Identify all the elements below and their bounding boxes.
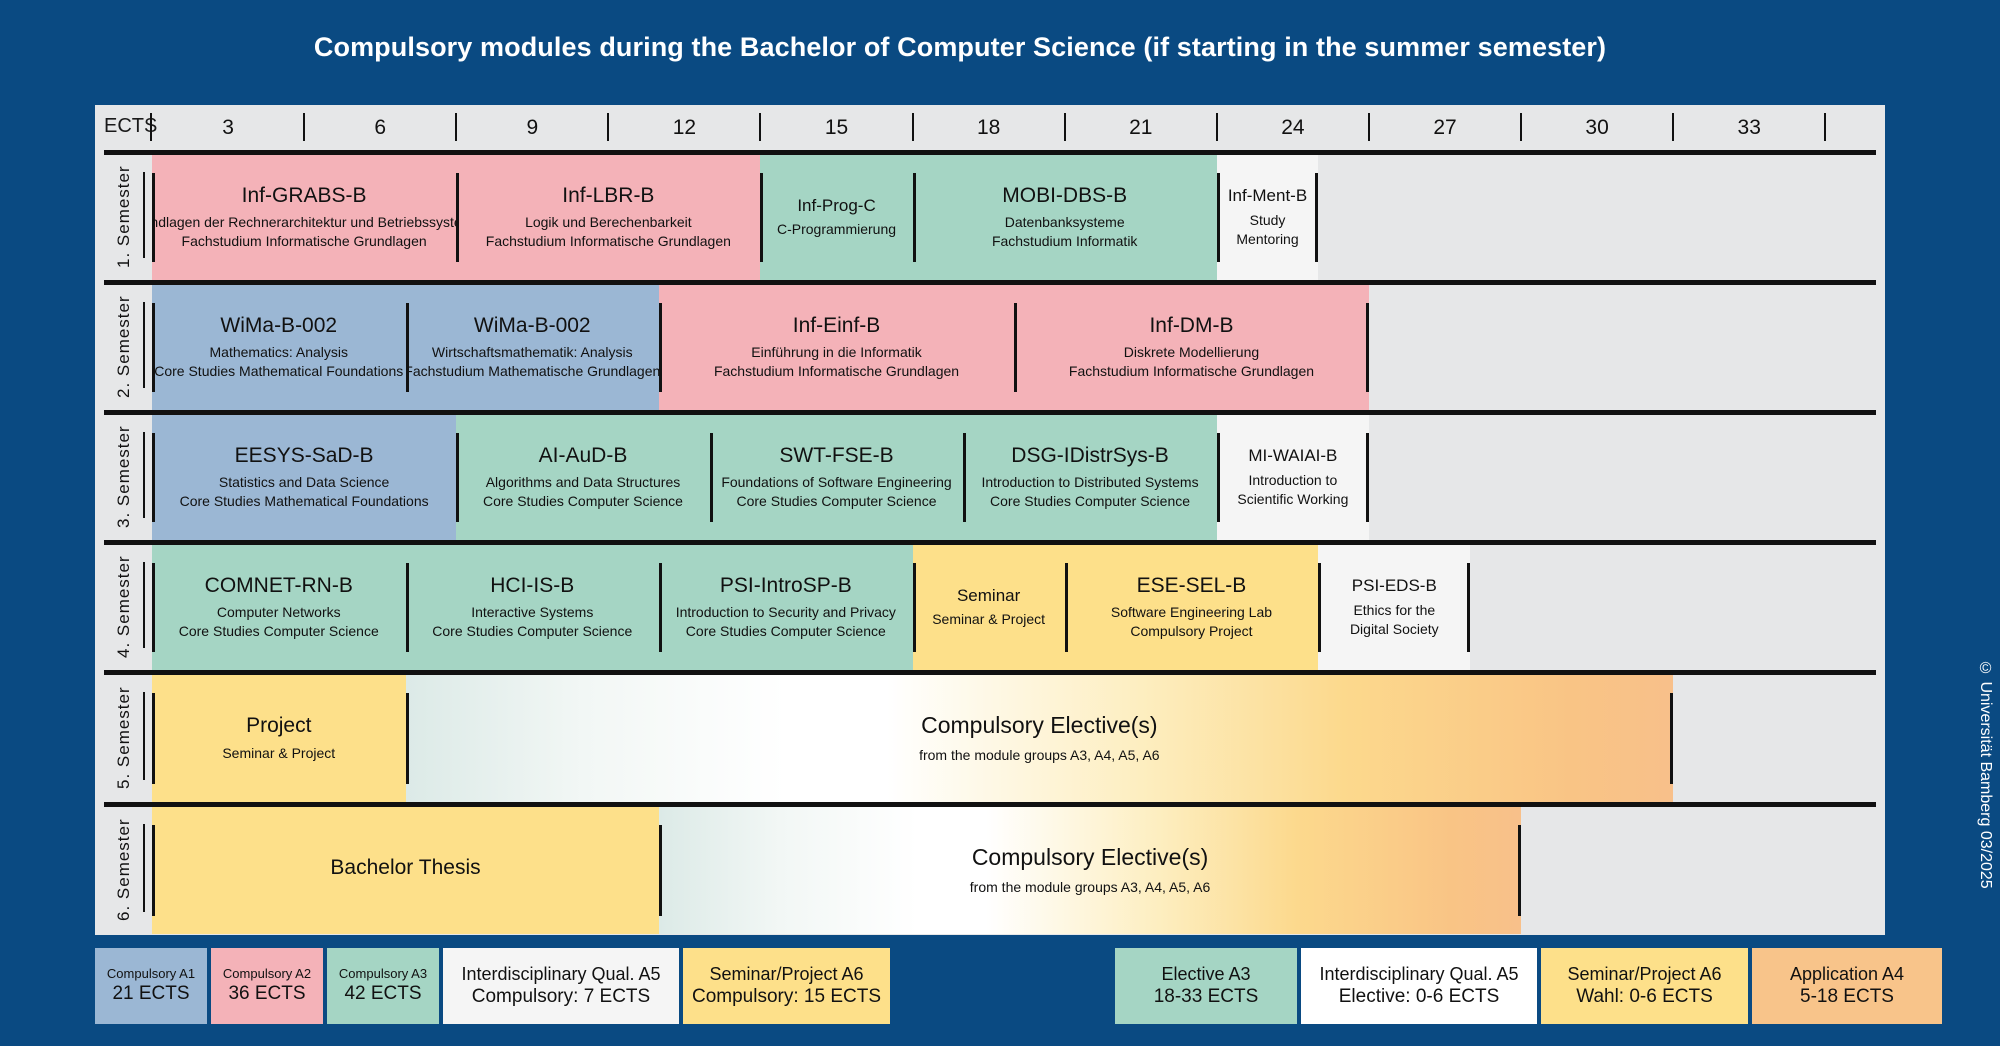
scale-tick — [1520, 113, 1522, 141]
scale-tick-label: 30 — [1567, 116, 1627, 140]
copyright-notice: © Universität Bamberg 03/2025 — [1976, 660, 1994, 889]
legend-item-title: Elective A3 — [1161, 963, 1250, 986]
module-group: Digital Society — [1350, 620, 1439, 639]
module-block[interactable]: HCI-IS-BInteractive SystemsCore Studies … — [406, 545, 660, 670]
ects-scale: ECTS 3691215182124273033 — [95, 105, 1885, 150]
module-block[interactable]: DSG-IDistrSys-BIntroduction to Distribut… — [963, 415, 1217, 540]
module-code: Seminar — [957, 586, 1020, 606]
semester-track: EESYS-SaD-BStatistics and Data ScienceCo… — [152, 415, 1876, 540]
scale-tick — [1216, 113, 1218, 141]
module-title: from the module groups A3, A4, A5, A6 — [970, 878, 1211, 897]
legend-item[interactable]: Application A45-18 ECTS — [1752, 948, 1942, 1024]
legend-item-value: 5-18 ECTS — [1800, 985, 1894, 1009]
module-separator — [152, 825, 155, 916]
module-separator — [1217, 433, 1220, 522]
semester-label: 2. Semester — [109, 290, 139, 404]
module-separator — [659, 825, 662, 916]
legend-item[interactable]: Seminar/Project A6Wahl: 0-6 ECTS — [1541, 948, 1748, 1024]
module-block[interactable]: EESYS-SaD-BStatistics and Data ScienceCo… — [152, 415, 456, 540]
module-code: MOBI-DBS-B — [1002, 184, 1127, 208]
module-separator — [1518, 825, 1521, 916]
module-title: Einführung in die Informatik — [751, 343, 921, 362]
legend-item-value: Compulsory: 15 ECTS — [692, 985, 881, 1009]
module-title: Study — [1250, 211, 1286, 230]
module-title: Software Engineering Lab — [1111, 603, 1272, 622]
module-title: Logik und Berechenbarkeit — [525, 213, 692, 232]
legend-item[interactable]: Elective A318-33 ECTS — [1115, 948, 1297, 1024]
module-block[interactable]: SWT-FSE-BFoundations of Software Enginee… — [710, 415, 964, 540]
legend-item-value: Wahl: 0-6 ECTS — [1576, 985, 1713, 1009]
legend-item-title: Interdisciplinary Qual. A5 — [461, 963, 660, 986]
semester-label-divider — [143, 562, 145, 648]
module-separator — [710, 433, 713, 522]
semester-label-divider — [143, 172, 145, 258]
module-block[interactable]: Inf-Ment-BStudyMentoring — [1217, 155, 1318, 280]
module-separator — [1318, 563, 1321, 652]
semester-track: Inf-GRABS-BGrundlagen der Rechnerarchite… — [152, 155, 1876, 280]
module-block[interactable]: PSI-IntroSP-BIntroduction to Security an… — [659, 545, 913, 670]
module-group: Core Studies Mathematical Foundations — [154, 362, 403, 381]
legend-item-value: 36 ECTS — [228, 982, 305, 1006]
semester-label: 4. Semester — [109, 550, 139, 664]
module-code: Inf-GRABS-B — [242, 184, 367, 208]
module-title: Interactive Systems — [471, 603, 593, 622]
module-group: Scientific Working — [1237, 490, 1348, 509]
semester-row: 4. SemesterCOMNET-RN-BComputer NetworksC… — [95, 540, 1885, 670]
semester-label: 1. Semester — [109, 160, 139, 274]
semester-label-divider — [143, 824, 145, 912]
module-title: Introduction to — [1249, 471, 1338, 490]
semester-label-divider — [143, 692, 145, 780]
module-block[interactable]: ESE-SEL-BSoftware Engineering LabCompuls… — [1065, 545, 1319, 670]
module-code: AI-AuD-B — [539, 444, 628, 468]
module-code: MI-WAIAI-B — [1248, 446, 1337, 466]
module-separator — [659, 563, 662, 652]
scale-tick-label: 24 — [1263, 116, 1323, 140]
module-title: Seminar & Project — [932, 610, 1045, 629]
module-code: COMNET-RN-B — [205, 574, 353, 598]
module-code: WiMa-B-002 — [220, 314, 337, 338]
legend-item-title: Seminar/Project A6 — [1567, 963, 1721, 986]
scale-tick-label: 18 — [959, 116, 1019, 140]
scale-tick-label: 9 — [502, 116, 562, 140]
module-title: Seminar & Project — [222, 744, 335, 763]
module-block[interactable]: PSI-EDS-BEthics for theDigital Society — [1318, 545, 1470, 670]
curriculum-panel: ECTS 3691215182124273033 1. SemesterInf-… — [95, 105, 1885, 935]
module-separator — [152, 563, 155, 652]
module-code: Inf-Ment-B — [1228, 186, 1307, 206]
module-block[interactable]: Bachelor Thesis — [152, 807, 659, 934]
legend-item-value: Compulsory: 7 ECTS — [472, 985, 650, 1009]
module-title: Ethics for the — [1353, 601, 1435, 620]
semester-label-divider — [143, 302, 145, 388]
module-block[interactable]: Inf-GRABS-BGrundlagen der Rechnerarchite… — [152, 155, 456, 280]
legend-item-value: 21 ECTS — [112, 982, 189, 1006]
module-separator — [1366, 433, 1369, 522]
semester-track: COMNET-RN-BComputer NetworksCore Studies… — [152, 545, 1876, 670]
module-block[interactable]: AI-AuD-BAlgorithms and Data StructuresCo… — [456, 415, 710, 540]
module-block[interactable]: Inf-LBR-BLogik und BerechenbarkeitFachst… — [456, 155, 760, 280]
module-title: Statistics and Data Science — [219, 473, 389, 492]
module-group: Core Studies Computer Science — [483, 492, 683, 511]
legend-item-title: Seminar/Project A6 — [709, 963, 863, 986]
legend-item[interactable]: Interdisciplinary Qual. A5Compulsory: 7 … — [443, 948, 679, 1024]
semester-track: ProjectSeminar & ProjectCompulsory Elect… — [152, 675, 1876, 802]
semester-row: 2. SemesterWiMa-B-002Mathematics: Analys… — [95, 280, 1885, 410]
semester-row: 3. SemesterEESYS-SaD-BStatistics and Dat… — [95, 410, 1885, 540]
semester-row: 1. SemesterInf-GRABS-BGrundlagen der Rec… — [95, 150, 1885, 280]
module-group: Core Studies Computer Science — [737, 492, 937, 511]
module-separator — [406, 303, 409, 392]
legend-item-value: 42 ECTS — [344, 982, 421, 1006]
module-separator — [1217, 173, 1220, 262]
module-code: SWT-FSE-B — [779, 444, 893, 468]
module-code: Bachelor Thesis — [330, 856, 480, 880]
module-code: PSI-EDS-B — [1352, 576, 1437, 596]
module-separator — [406, 563, 409, 652]
module-separator — [1670, 693, 1673, 784]
scale-tick — [150, 113, 152, 141]
legend-item-title: Interdisciplinary Qual. A5 — [1319, 963, 1518, 986]
module-code: Compulsory Elective(s) — [921, 712, 1157, 738]
module-block[interactable]: COMNET-RN-BComputer NetworksCore Studies… — [152, 545, 406, 670]
module-group: Fachstudium Informatische Grundlagen — [714, 362, 959, 381]
legend-item[interactable]: Interdisciplinary Qual. A5Elective: 0-6 … — [1301, 948, 1537, 1024]
scale-tick — [1672, 113, 1674, 141]
semester-row: 6. SemesterBachelor ThesisCompulsory Ele… — [95, 802, 1885, 934]
module-code: ESE-SEL-B — [1137, 574, 1247, 598]
scale-tick-label: 6 — [350, 116, 410, 140]
module-code: Inf-Einf-B — [793, 314, 881, 338]
module-group: Core Studies Computer Science — [432, 622, 632, 641]
module-separator — [1014, 303, 1017, 392]
module-title: Computer Networks — [217, 603, 341, 622]
scale-tick-label: 21 — [1111, 116, 1171, 140]
module-separator — [456, 433, 459, 522]
module-title: Introduction to Security and Privacy — [676, 603, 896, 622]
module-code: Project — [246, 714, 311, 738]
module-group: Fachstudium Informatische Grundlagen — [1069, 362, 1314, 381]
scale-tick — [303, 113, 305, 141]
module-group: Fachstudium Informatische Grundlagen — [486, 232, 731, 251]
module-code: WiMa-B-002 — [474, 314, 591, 338]
legend-item-title: Compulsory A1 — [107, 966, 195, 982]
legend-item[interactable]: Compulsory A121 ECTS — [95, 948, 207, 1024]
scale-tick — [759, 113, 761, 141]
module-title: Algorithms and Data Structures — [486, 473, 681, 492]
module-block[interactable]: SeminarSeminar & Project — [913, 545, 1065, 670]
module-group: Compulsory Project — [1130, 622, 1252, 641]
module-title: Introduction to Distributed Systems — [981, 473, 1198, 492]
module-separator — [1366, 303, 1369, 392]
legend-item[interactable]: Compulsory A342 ECTS — [327, 948, 439, 1024]
module-block[interactable]: Inf-DM-BDiskrete ModellierungFachstudium… — [1014, 285, 1369, 410]
legend-item-title: Compulsory A3 — [339, 966, 427, 982]
scale-tick-label: 12 — [654, 116, 714, 140]
module-group: Fachstudium Informatische Grundlagen — [182, 232, 427, 251]
scale-tick — [455, 113, 457, 141]
module-block[interactable]: Inf-Einf-BEinführung in die InformatikFa… — [659, 285, 1014, 410]
module-separator — [152, 173, 155, 262]
module-separator — [152, 433, 155, 522]
legend-item[interactable]: Seminar/Project A6Compulsory: 15 ECTS — [683, 948, 890, 1024]
module-group: Core Studies Mathematical Foundations — [180, 492, 429, 511]
module-title: Foundations of Software Engineering — [721, 473, 951, 492]
module-block[interactable]: Compulsory Elective(s)from the module gr… — [659, 807, 1521, 934]
module-block[interactable]: MI-WAIAI-BIntroduction toScientific Work… — [1217, 415, 1369, 540]
module-separator — [760, 173, 763, 262]
module-code: Compulsory Elective(s) — [972, 844, 1208, 870]
module-separator — [152, 693, 155, 784]
legend-item-value: 18-33 ECTS — [1154, 985, 1259, 1009]
module-separator — [913, 563, 916, 652]
semester-row: 5. SemesterProjectSeminar & ProjectCompu… — [95, 670, 1885, 802]
module-title: Grundlagen der Rechnerarchitektur und Be… — [152, 213, 456, 232]
module-separator — [913, 173, 916, 262]
module-code: EESYS-SaD-B — [235, 444, 374, 468]
module-separator — [406, 693, 409, 784]
module-group: Mentoring — [1236, 230, 1298, 249]
module-separator — [1065, 563, 1068, 652]
scale-tick-label: 3 — [198, 116, 258, 140]
scale-tick — [912, 113, 914, 141]
module-group: Fachstudium Informatik — [992, 232, 1138, 251]
module-block[interactable]: WiMa-B-002Wirtschaftsmathematik: Analysi… — [406, 285, 660, 410]
module-block[interactable]: ProjectSeminar & Project — [152, 675, 406, 802]
legend-item-title: Compulsory A2 — [223, 966, 311, 982]
semester-track: Bachelor ThesisCompulsory Elective(s)fro… — [152, 807, 1876, 934]
module-separator — [1467, 563, 1470, 652]
scale-tick — [1368, 113, 1370, 141]
semester-label: 5. Semester — [109, 680, 139, 796]
semester-track: WiMa-B-002Mathematics: AnalysisCore Stud… — [152, 285, 1876, 410]
module-title: from the module groups A3, A4, A5, A6 — [919, 746, 1160, 765]
module-block[interactable]: Inf-Prog-CC-Programmierung — [760, 155, 912, 280]
module-title: Mathematics: Analysis — [210, 343, 349, 362]
scale-tick-label: 33 — [1719, 116, 1779, 140]
module-block[interactable]: Compulsory Elective(s)from the module gr… — [406, 675, 1674, 802]
semester-label: 3. Semester — [109, 420, 139, 534]
semester-label: 6. Semester — [109, 812, 139, 928]
scale-tick — [1064, 113, 1066, 141]
module-title: Diskrete Modellierung — [1124, 343, 1259, 362]
scale-tick-label: 27 — [1415, 116, 1475, 140]
legend-item-title: Application A4 — [1790, 963, 1904, 986]
semester-label-divider — [143, 432, 145, 518]
module-separator — [963, 433, 966, 522]
module-block[interactable]: MOBI-DBS-BDatenbanksystemeFachstudium In… — [913, 155, 1217, 280]
module-separator — [456, 173, 459, 262]
module-block[interactable]: WiMa-B-002Mathematics: AnalysisCore Stud… — [152, 285, 406, 410]
page-title: Compulsory modules during the Bachelor o… — [0, 32, 1920, 63]
module-group: Fachstudium Mathematische Grundlagen — [406, 362, 660, 381]
legend-item-value: Elective: 0-6 ECTS — [1339, 985, 1500, 1009]
module-separator — [659, 303, 662, 392]
module-title: C-Programmierung — [777, 220, 896, 239]
module-group: Core Studies Computer Science — [179, 622, 379, 641]
scale-tick — [607, 113, 609, 141]
module-separator — [152, 303, 155, 392]
module-title: Wirtschaftsmathematik: Analysis — [432, 343, 633, 362]
module-code: HCI-IS-B — [490, 574, 574, 598]
module-group: Core Studies Computer Science — [686, 622, 886, 641]
module-code: Inf-Prog-C — [797, 196, 875, 216]
module-separator — [1315, 173, 1318, 262]
scale-tick-label: 15 — [807, 116, 867, 140]
module-code: Inf-LBR-B — [562, 184, 654, 208]
module-group: Core Studies Computer Science — [990, 492, 1190, 511]
module-code: DSG-IDistrSys-B — [1011, 444, 1169, 468]
module-code: Inf-DM-B — [1149, 314, 1233, 338]
scale-tick — [1824, 113, 1826, 141]
module-code: PSI-IntroSP-B — [720, 574, 852, 598]
module-title: Datenbanksysteme — [1005, 213, 1125, 232]
legend-item[interactable]: Compulsory A236 ECTS — [211, 948, 323, 1024]
